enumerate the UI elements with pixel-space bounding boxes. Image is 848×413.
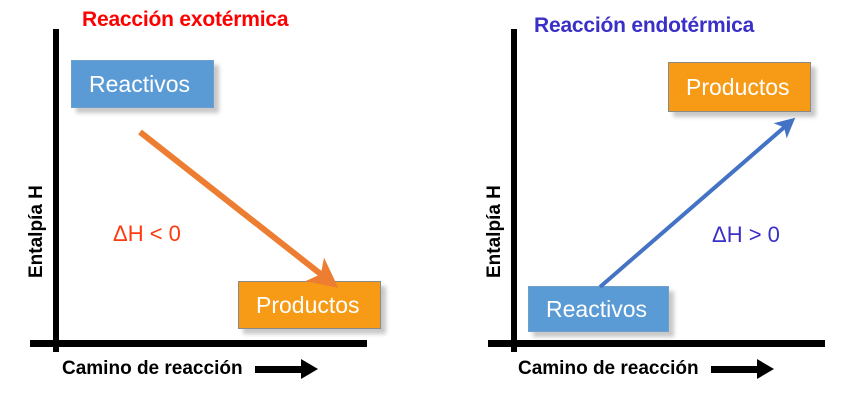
panel-exothermic: Reacción exotérmica Entalpía H Camino de…: [0, 0, 424, 413]
x-axis-label-group-endothermic: Camino de reacción: [518, 358, 758, 380]
enthalpy-diagram-canvas: Reacción exotérmica Entalpía H Camino de…: [0, 0, 848, 413]
reactants-box-endothermic: Reactivos: [528, 286, 669, 332]
y-axis-label-endothermic: Entalpía H: [484, 185, 506, 278]
products-box-endothermic: Productos: [668, 62, 811, 112]
right-arrow-icon: [711, 366, 758, 373]
y-axis-label-exothermic: Entalpía H: [26, 185, 48, 278]
exothermic-title: Reacción exotérmica: [82, 8, 288, 32]
y-axis-line-endothermic: [511, 29, 517, 352]
products-box-exothermic: Productos: [238, 281, 381, 329]
x-axis-label-exothermic: Camino de reacción: [62, 358, 243, 380]
delta-h-label-endothermic: ΔH > 0: [712, 222, 780, 248]
x-axis-label-endothermic: Camino de reacción: [518, 358, 699, 380]
y-axis-line-exothermic: [53, 29, 59, 352]
endothermic-title: Reacción endotérmica: [534, 14, 754, 38]
x-axis-label-group-exothermic: Camino de reacción: [62, 358, 302, 380]
x-axis-line-exothermic: [30, 340, 367, 347]
delta-h-label-exothermic: ΔH < 0: [113, 221, 181, 247]
right-arrow-icon: [255, 366, 302, 373]
x-axis-line-endothermic: [488, 340, 825, 347]
reactants-box-exothermic: Reactivos: [71, 60, 214, 108]
panel-endothermic: Reacción endotérmica Entalpía H Camino d…: [424, 0, 848, 413]
